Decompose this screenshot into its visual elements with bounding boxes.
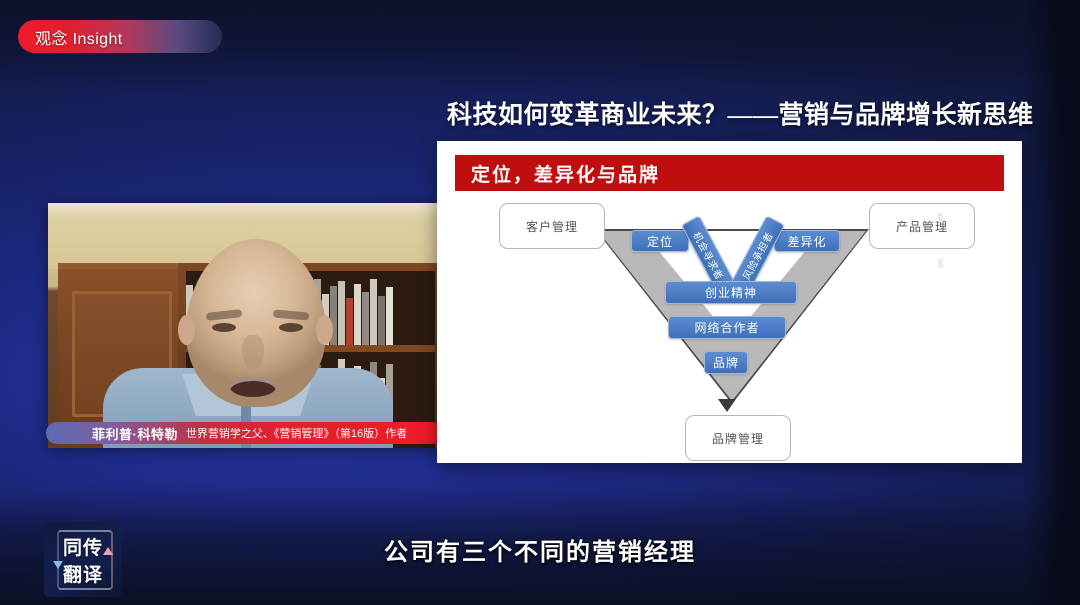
background-right-vignette — [1022, 0, 1080, 605]
diagram-label-network-partner: 网络合作者 — [668, 316, 786, 339]
diagram-box-label: 客户管理 — [526, 218, 578, 235]
slide-section-title: 定位，差异化与品牌 — [471, 160, 660, 187]
diagram-label-entrepreneurship: 创业精神 — [665, 281, 797, 304]
arrow-down-icon — [718, 399, 736, 412]
screen-capture: 观念 Insight — [0, 0, 1080, 605]
diagram-label-differentiation: 差异化 — [774, 230, 840, 252]
mouth — [230, 377, 276, 397]
slide-watermark-mark — [938, 213, 943, 222]
eye-right — [279, 323, 303, 332]
diagram-box-product-management[interactable]: 产品管理 — [869, 203, 975, 249]
subtitle-caption: 公司有三个不同的营销经理 — [0, 532, 1080, 567]
diagram-label-brand: 品牌 — [704, 351, 748, 374]
brand-badge: 观念 Insight — [18, 20, 222, 53]
ear-left — [178, 315, 195, 345]
speaker-title: 世界营销学之父、《营销管理》（第16版）作者 — [186, 425, 407, 441]
brand-badge-label: 观念 Insight — [35, 25, 123, 49]
presentation-slide[interactable]: 定位，差异化与品牌 客户管理 产品管理 品牌管理 定位 差异化 机会寻求者 风险… — [437, 141, 1022, 463]
ceiling — [48, 203, 443, 217]
nose — [242, 335, 264, 369]
diagram-box-customer-management[interactable]: 客户管理 — [499, 203, 605, 249]
eye-left — [212, 323, 236, 332]
triangle-diagram: 客户管理 产品管理 品牌管理 定位 差异化 机会寻求者 风险承担者 创业精神 网… — [437, 193, 1022, 463]
speaker-name-banner: 菲利普·科特勒 世界营销学之父、《营销管理》（第16版）作者 — [46, 422, 443, 444]
video-background-room — [48, 203, 443, 448]
diagram-box-label: 品牌管理 — [712, 430, 764, 447]
ear-right — [316, 315, 333, 345]
diagram-label-positioning: 定位 — [631, 230, 689, 252]
speaker-face — [168, 239, 343, 448]
speaker-video-tile[interactable] — [48, 203, 443, 448]
slide-watermark-mark — [938, 259, 943, 268]
slide-heading: 科技如何变革商业未来？——营销与品牌增长新思维 — [447, 95, 1037, 131]
diagram-box-brand-management[interactable]: 品牌管理 — [685, 415, 791, 461]
slide-section-banner: 定位，差异化与品牌 — [455, 155, 1004, 191]
speaker-name: 菲利普·科特勒 — [92, 424, 178, 443]
